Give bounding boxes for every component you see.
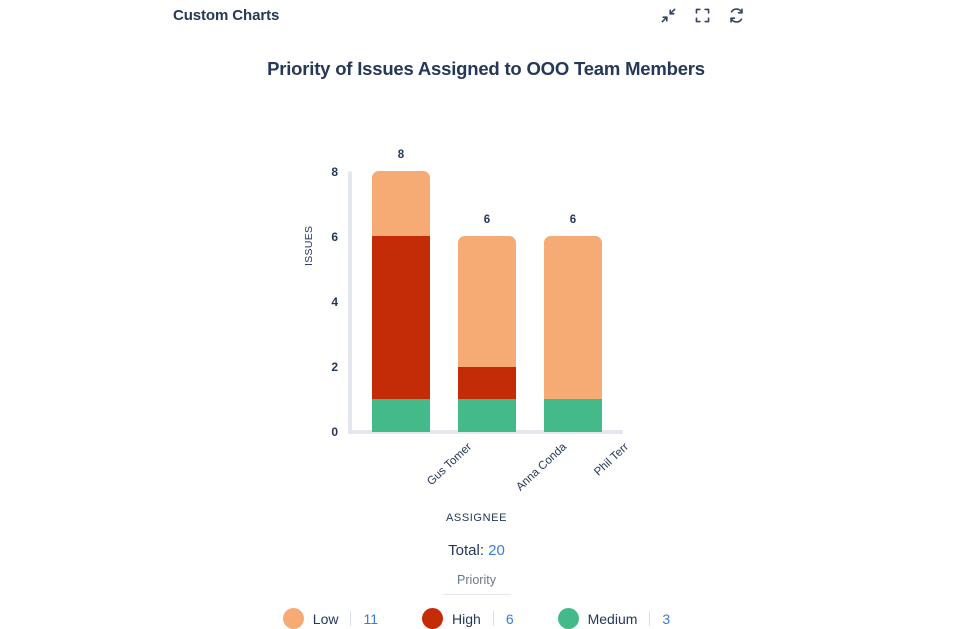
y-axis-title: ISSUES — [303, 226, 315, 266]
page-title: Custom Charts — [173, 7, 279, 24]
chart-total: Total: 20 — [0, 542, 953, 559]
collapse-icon[interactable] — [659, 6, 677, 24]
legend-swatch-low-icon — [283, 608, 304, 629]
y-tick-label: 0 — [316, 425, 338, 439]
y-axis-line — [348, 171, 352, 433]
chart-legend: Low 11 High 6 Medium 3 — [0, 608, 953, 629]
x-category-label: Anna Conda — [514, 441, 569, 493]
chart-plot-area: ISSUES 8 6 4 2 0 8 Gus Tomer 6 Anna Cond — [0, 34, 953, 474]
fullscreen-icon[interactable] — [693, 6, 711, 24]
x-category-label: Gus Tomer — [425, 441, 474, 488]
legend-divider — [649, 611, 650, 626]
legend-item-medium[interactable]: Medium 3 — [558, 608, 671, 629]
app-header: Custom Charts — [0, 0, 953, 34]
legend-heading-wrap: Priority — [0, 571, 953, 595]
total-label: Total: — [448, 542, 484, 559]
bar-group: 8 — [372, 171, 430, 432]
y-tick-label: 6 — [316, 230, 338, 244]
total-value: 20 — [488, 542, 505, 559]
legend-divider — [493, 611, 494, 626]
bar-group: 6 — [544, 236, 602, 432]
bar-segment-medium[interactable] — [458, 399, 516, 432]
bar-total-label: 6 — [544, 214, 602, 226]
bar-segment-medium[interactable] — [544, 399, 602, 432]
legend-count-medium: 3 — [662, 611, 670, 627]
x-category-label: Phil Terr — [592, 441, 631, 478]
legend-item-high[interactable]: High 6 — [422, 608, 514, 629]
y-tick-label: 2 — [316, 360, 338, 374]
legend-label-high: High — [452, 611, 481, 627]
bar-group: 6 — [458, 236, 516, 432]
x-axis-title: ASSIGNEE — [0, 512, 953, 524]
legend-item-low[interactable]: Low 11 — [283, 608, 378, 629]
legend-label-low: Low — [313, 611, 339, 627]
legend-count-high: 6 — [506, 611, 514, 627]
bar-segment-medium[interactable] — [372, 399, 430, 432]
header-actions — [659, 6, 745, 24]
legend-swatch-high-icon — [422, 608, 443, 629]
bar-segment-high[interactable] — [458, 367, 516, 400]
bar-segment-low[interactable] — [372, 171, 430, 236]
bar-total-label: 8 — [372, 149, 430, 161]
bar-segment-low[interactable] — [458, 236, 516, 367]
legend-divider — [350, 611, 351, 626]
legend-swatch-medium-icon — [558, 608, 579, 629]
bar-total-label: 6 — [458, 214, 516, 226]
y-tick-label: 4 — [316, 295, 338, 309]
chart-card: Priority of Issues Assigned to OOO Team … — [0, 34, 953, 603]
bar-segment-high[interactable] — [372, 236, 430, 399]
refresh-icon[interactable] — [727, 6, 745, 24]
legend-count-low: 11 — [363, 611, 378, 627]
y-tick-label: 8 — [316, 165, 338, 179]
bar-segment-low[interactable] — [544, 236, 602, 399]
legend-label-medium: Medium — [588, 611, 638, 627]
legend-heading: Priority — [443, 573, 511, 595]
